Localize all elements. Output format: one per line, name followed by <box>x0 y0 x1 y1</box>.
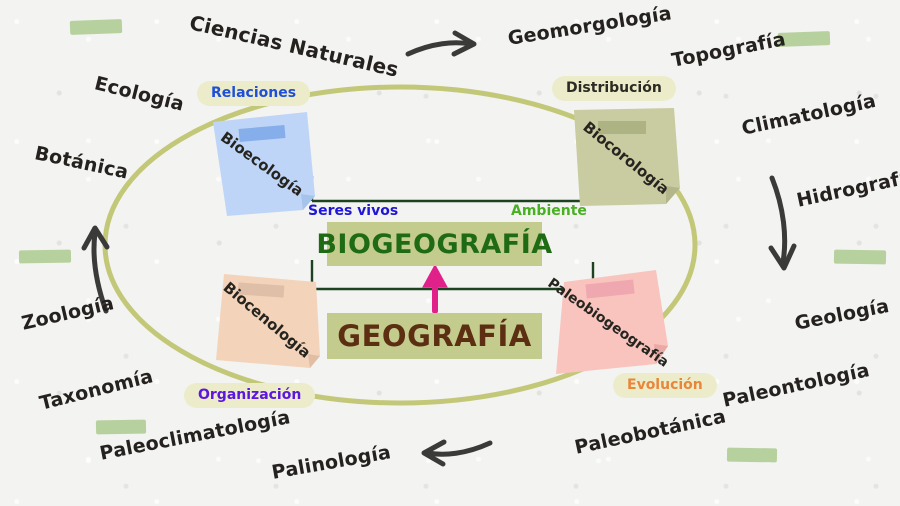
tape-mark-right <box>834 250 886 265</box>
box-biogeografia[interactable]: BIOGEOGRAFÍA <box>327 222 542 266</box>
pill-evolucion-label: Evolución <box>627 377 703 393</box>
box-biogeografia-label: BIOGEOGRAFÍA <box>316 229 552 260</box>
note-bioecologia[interactable]: Bioecología <box>207 110 317 218</box>
tape-mark-top-left <box>70 19 122 35</box>
note-biocenologia[interactable]: Biocenología <box>212 268 322 372</box>
tape-mark-bottom-left <box>96 420 146 435</box>
pill-distribucion-label: Distribución <box>566 80 662 96</box>
pill-distribucion[interactable]: Distribución <box>552 76 676 101</box>
outer-label-zoologia: Zoología <box>20 292 117 335</box>
flow-arrow-right <box>771 178 794 268</box>
outer-label-taxonomia: Taxonomía <box>37 365 155 414</box>
outer-label-ciencias-naturales: Ciencias Naturales <box>187 10 401 81</box>
outer-label-geologia: Geología <box>793 295 891 335</box>
outer-label-climatologia: Climatología <box>740 90 878 140</box>
outer-label-topografia: Topografía <box>670 28 788 72</box>
box-geografia[interactable]: GEOGRAFÍA <box>327 313 542 359</box>
outer-label-hidrografia: Hidrografía <box>795 164 900 211</box>
outer-label-geomorgologia: Geomorgología <box>506 2 673 50</box>
tape-mark-left <box>19 250 71 264</box>
label-seres-vivos: Seres vivos <box>308 203 398 219</box>
pill-relaciones[interactable]: Relaciones <box>197 81 310 106</box>
magenta-up-arrow <box>423 265 447 311</box>
pill-organizacion-label: Organización <box>198 387 301 403</box>
outer-label-paleontologia: Paleontología <box>721 359 872 412</box>
note-biocorologia[interactable]: Biocorología <box>570 104 682 212</box>
outer-label-palinologia: Palinología <box>270 441 393 484</box>
outer-label-botanica: Botánica <box>33 142 131 183</box>
outer-label-ecologia: Ecología <box>92 72 186 115</box>
pill-relaciones-label: Relaciones <box>211 85 296 101</box>
outer-label-paleoclimatologia: Paleoclimatología <box>98 406 292 465</box>
flow-arrow-bottom <box>424 442 490 464</box>
note-paleobiogeografia[interactable]: Paleobiogeografía <box>546 268 670 378</box>
pill-evolucion[interactable]: Evolución <box>613 373 717 398</box>
label-ambiente: Ambiente <box>511 203 587 219</box>
pill-organizacion[interactable]: Organización <box>184 383 315 408</box>
flow-arrow-top <box>408 33 474 54</box>
outer-label-paleobotanica: Paleobotánica <box>573 405 728 459</box>
box-geografia-label: GEOGRAFÍA <box>337 319 531 353</box>
tape-mark-bottom-right <box>727 448 777 463</box>
diagram-canvas: Bioecología Biocorología Biocenología Pa… <box>0 0 900 506</box>
